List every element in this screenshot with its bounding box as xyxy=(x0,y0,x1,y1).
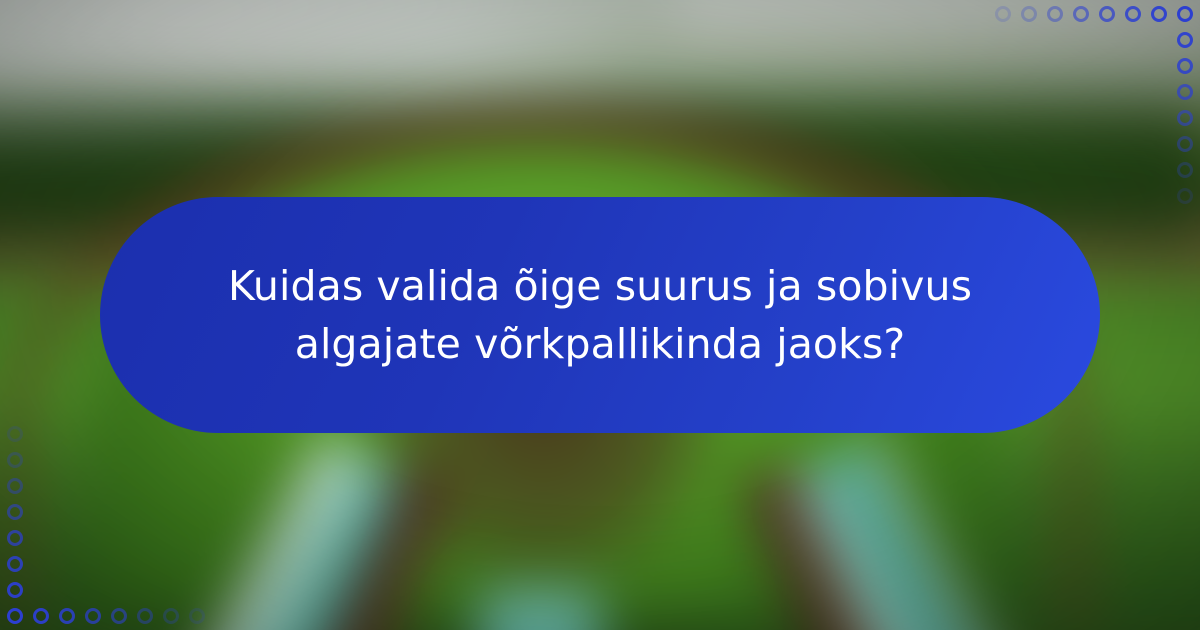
og-card-canvas: Kuidas valida õige suurus ja sobivus alg… xyxy=(0,0,1200,630)
decorative-dot xyxy=(1099,6,1115,22)
headline-card: Kuidas valida õige suurus ja sobivus alg… xyxy=(100,197,1100,433)
decorative-dot xyxy=(33,608,49,624)
decorative-dot xyxy=(111,608,127,624)
decorative-dot xyxy=(7,608,23,624)
decorative-dot xyxy=(1125,6,1141,22)
decorative-dot xyxy=(7,530,23,546)
decorative-dot xyxy=(7,478,23,494)
decorative-dot xyxy=(163,608,179,624)
headline-title: Kuidas valida õige suurus ja sobivus alg… xyxy=(200,257,1000,373)
decorative-dot xyxy=(189,608,205,624)
decorative-dot xyxy=(1047,6,1063,22)
decorative-dot xyxy=(1177,84,1193,100)
decorative-dot xyxy=(85,608,101,624)
decorative-dot xyxy=(995,6,1011,22)
decorative-dot xyxy=(59,608,75,624)
dot-pattern-bottom-left xyxy=(0,422,208,630)
decorative-dot xyxy=(7,556,23,572)
decorative-dot xyxy=(1177,188,1193,204)
decorative-dot xyxy=(1073,6,1089,22)
dot-pattern-top-right xyxy=(992,0,1200,208)
decorative-dot xyxy=(1151,6,1167,22)
decorative-dot xyxy=(7,504,23,520)
decorative-dot xyxy=(1177,32,1193,48)
decorative-dot xyxy=(1177,136,1193,152)
decorative-dot xyxy=(7,452,23,468)
decorative-dot xyxy=(1177,110,1193,126)
decorative-dot xyxy=(1177,6,1193,22)
decorative-dot xyxy=(7,426,23,442)
decorative-dot xyxy=(1177,58,1193,74)
decorative-dot xyxy=(1021,6,1037,22)
decorative-dot xyxy=(1177,162,1193,178)
decorative-dot xyxy=(7,582,23,598)
decorative-dot xyxy=(137,608,153,624)
